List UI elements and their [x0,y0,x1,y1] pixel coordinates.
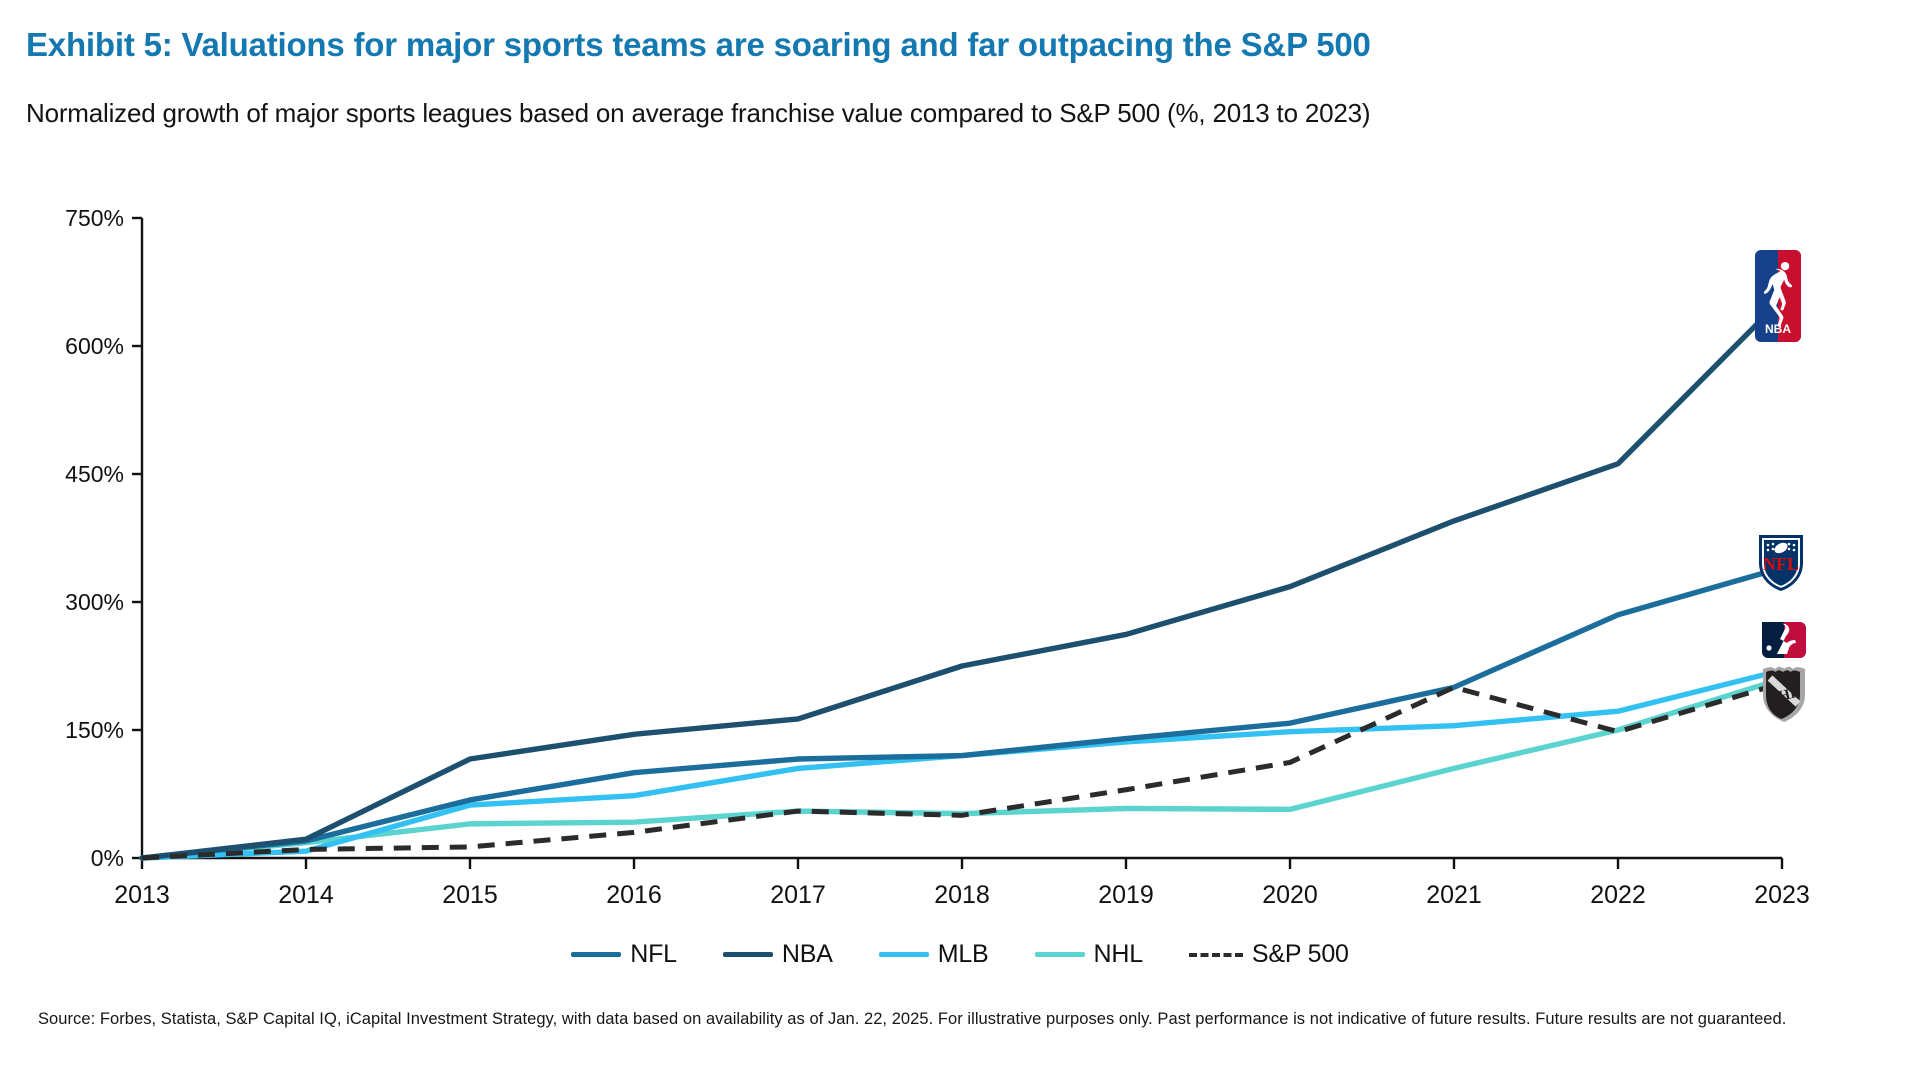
chart-plot-area: 0%150%300%450%600%750%201320142015201620… [0,170,1920,930]
x-tick-label: 2014 [278,881,334,909]
legend-label-sp500: S&P 500 [1252,940,1349,969]
legend-item-nfl[interactable]: NFL [571,940,677,969]
x-tick-label: 2023 [1754,881,1810,909]
legend-label-nba: NBA [782,940,833,969]
legend-label-nfl: NFL [630,940,677,969]
exhibit-page: Exhibit 5: Valuations for major sports t… [0,0,1920,1080]
x-tick-label: 2022 [1590,881,1646,909]
dashed-line-swatch-sp500 [1189,953,1243,957]
x-tick-label: 2017 [770,881,826,909]
y-tick-label: 300% [65,589,124,615]
nba-logo: NBA [1755,250,1801,347]
x-tick-label: 2015 [442,881,498,909]
chart-legend: NFL NBA MLB NHL S&P 500 [0,940,1920,969]
x-tick-label: 2013 [114,881,170,909]
line-chart-svg: 0%150%300%450%600%750%201320142015201620… [0,170,1920,930]
legend-item-sp500[interactable]: S&P 500 [1189,940,1349,969]
legend-item-mlb[interactable]: MLB [879,940,989,969]
y-tick-label: 750% [65,205,124,231]
series-line-nhl [142,679,1782,858]
y-tick-label: 150% [65,717,124,743]
line-swatch-nba [723,952,773,957]
series-line-mlb [142,670,1782,858]
y-tick-label: 450% [65,461,124,487]
page-title: Exhibit 5: Valuations for major sports t… [26,26,1371,64]
nfl-logo: NFL [1755,532,1807,599]
line-swatch-nfl [571,952,621,957]
legend-label-nhl: NHL [1094,940,1143,969]
nhl-logo: NHL [1757,664,1811,729]
line-swatch-nhl [1035,952,1085,957]
x-tick-label: 2019 [1098,881,1154,909]
line-swatch-mlb [879,952,929,957]
legend-item-nhl[interactable]: NHL [1035,940,1143,969]
y-tick-label: 600% [65,333,124,359]
legend-label-mlb: MLB [938,940,989,969]
x-tick-label: 2021 [1426,881,1482,909]
y-tick-label: 0% [91,845,124,871]
svg-text:NFL: NFL [1763,554,1799,574]
legend-item-nba[interactable]: NBA [723,940,833,969]
source-footnote: Source: Forbes, Statista, S&P Capital IQ… [38,1008,1886,1032]
x-tick-label: 2020 [1262,881,1318,909]
chart-subtitle: Normalized growth of major sports league… [26,98,1370,129]
mlb-logo [1758,614,1810,671]
svg-text:NBA: NBA [1765,322,1791,336]
x-tick-label: 2016 [606,881,662,909]
series-line-nba [142,299,1782,858]
x-tick-label: 2018 [934,881,990,909]
